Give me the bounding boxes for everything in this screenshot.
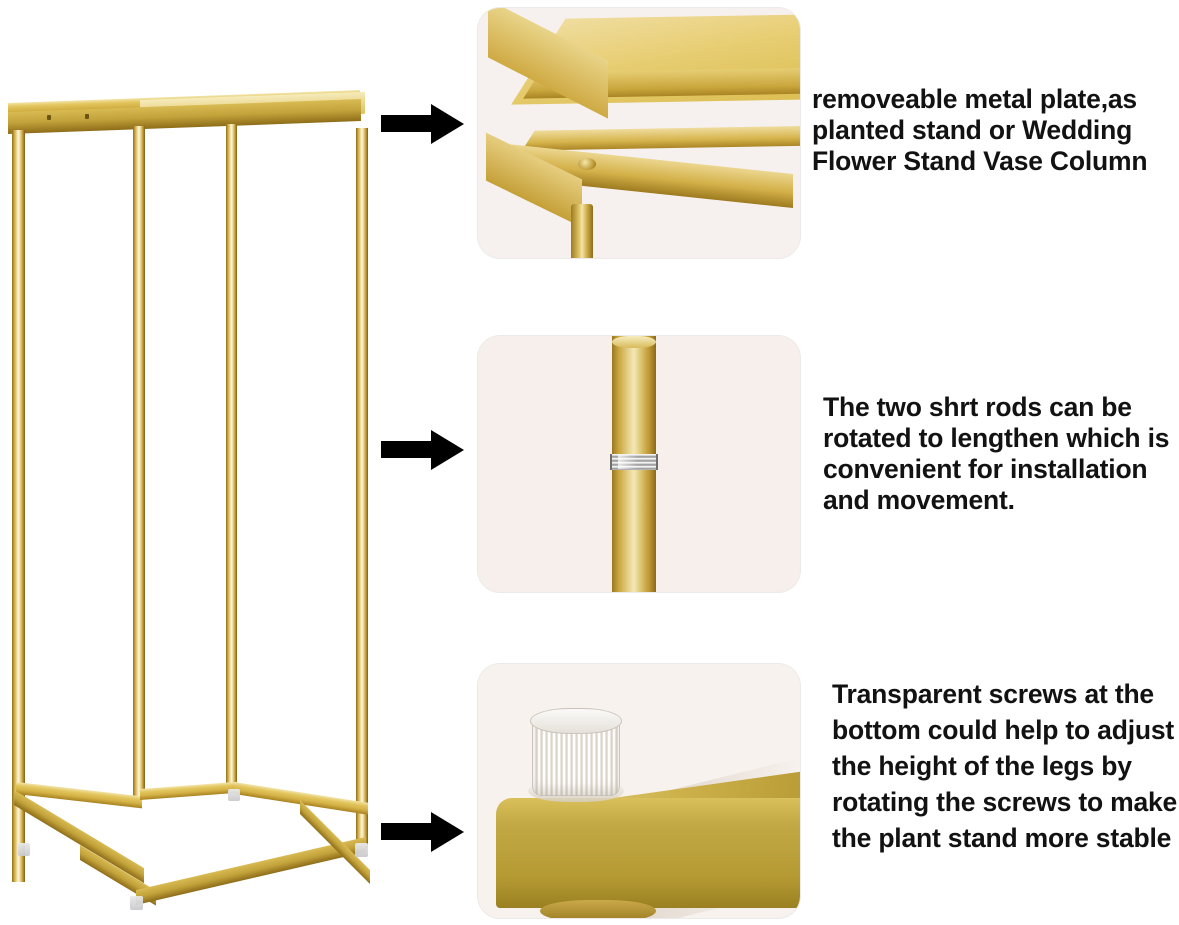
leg-front-right xyxy=(356,128,368,848)
leg-back-right xyxy=(226,124,237,792)
screw-cap-top xyxy=(530,708,622,734)
foot-screw-back-right xyxy=(228,789,240,801)
arrow-shaft xyxy=(381,441,435,458)
plate-screw-hole-right xyxy=(85,114,89,119)
caption-rotating-rods: The two shrt rods can be rotated to leng… xyxy=(823,392,1179,516)
infographic-canvas: removeable metal plate,as planted stand … xyxy=(0,0,1179,925)
leg-front-left xyxy=(12,130,25,882)
arrow-shaft xyxy=(381,115,435,132)
arrow-head xyxy=(431,812,464,852)
rod-top-cap xyxy=(612,336,656,348)
arrow-head xyxy=(431,104,464,144)
frame-screw-icon xyxy=(578,158,596,170)
thread-highlight xyxy=(618,455,638,469)
detail-photo-removable-plate xyxy=(478,8,800,258)
detail-photo-transparent-screw xyxy=(478,664,800,918)
foot-screw-front-right xyxy=(355,843,368,857)
leg-back-left xyxy=(133,126,145,798)
plate-screw-hole-left xyxy=(47,115,51,120)
base-bar-under-nub xyxy=(540,900,656,918)
base-bar-front-face xyxy=(496,798,800,908)
product-photo-main xyxy=(0,0,468,925)
caption-removable-plate: removeable metal plate,as planted stand … xyxy=(812,84,1179,177)
arrow-shaft xyxy=(381,823,435,840)
foot-screw-back-left xyxy=(18,843,30,856)
caption-transparent-screws: Transparent screws at the bottom could h… xyxy=(832,676,1179,856)
base-rail-back-right xyxy=(140,782,238,800)
frame-leg-stub xyxy=(571,204,593,258)
arrow-head xyxy=(431,430,464,470)
base-rail-front-right xyxy=(136,837,366,905)
foot-screw-front-left xyxy=(130,896,143,910)
detail-photo-rod-joint xyxy=(478,336,800,592)
